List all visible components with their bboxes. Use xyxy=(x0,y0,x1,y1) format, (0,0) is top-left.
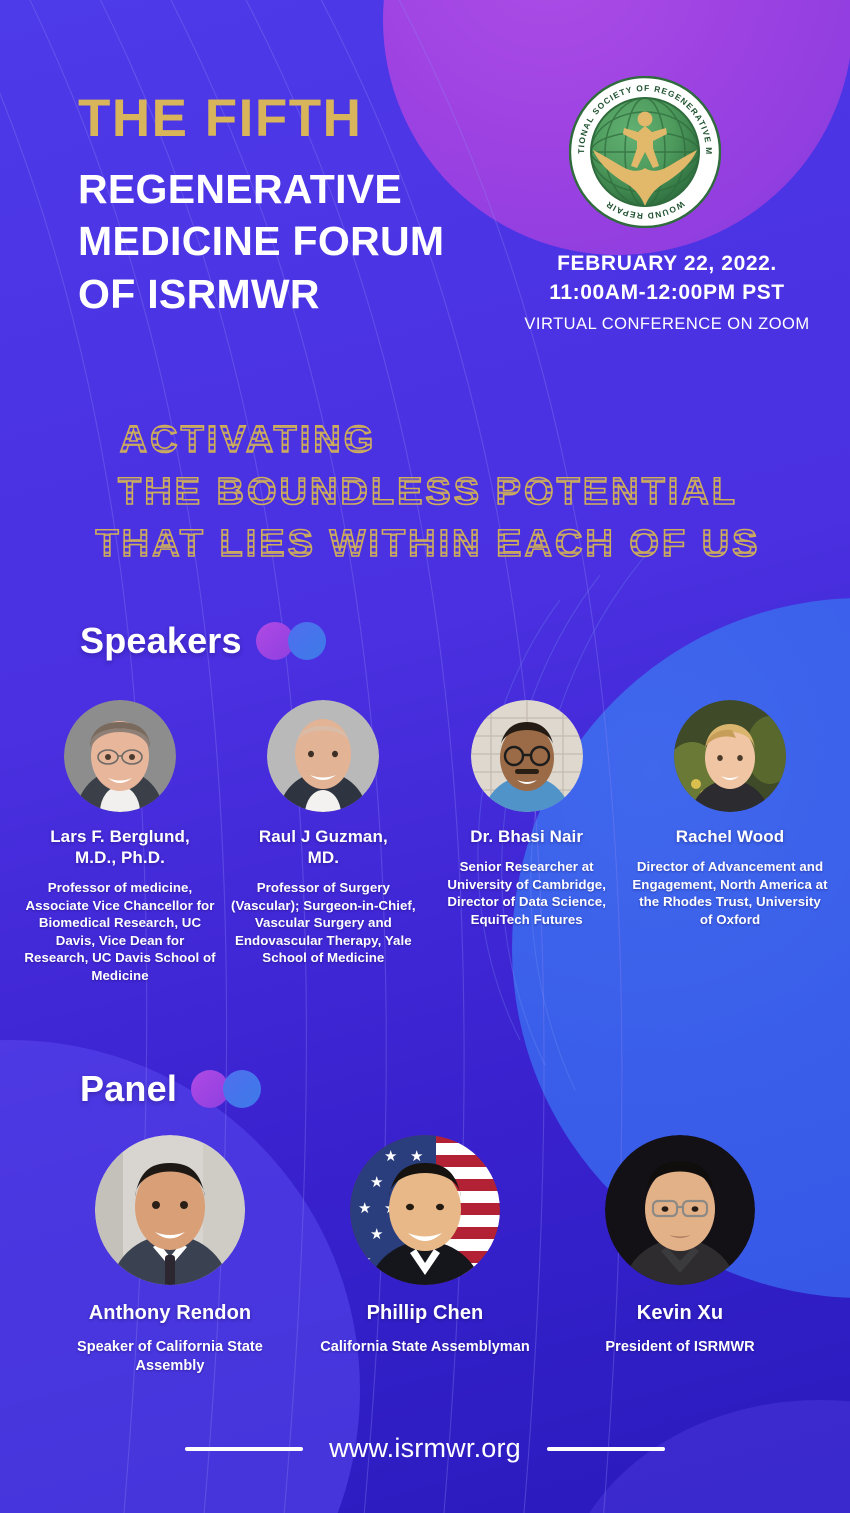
svg-text:★: ★ xyxy=(370,1225,383,1243)
svg-text:★: ★ xyxy=(384,1147,397,1165)
eyebrow-text: THE FIFTH xyxy=(78,92,538,145)
panelist-name: Anthony Rendon xyxy=(60,1301,280,1326)
speaker-card: Lars F. Berglund, M.D., Ph.D. Professor … xyxy=(22,700,218,984)
svg-text:★: ★ xyxy=(358,1251,371,1269)
footer-rule-right xyxy=(547,1447,665,1451)
tagline-line-3: THAT LIES WITHIN EACH OF US xyxy=(95,523,760,565)
speaker-name: Raul J Guzman, MD. xyxy=(225,826,421,868)
title-line-2: MEDICINE FORUM xyxy=(78,215,538,267)
avatar xyxy=(64,700,176,812)
svg-text:★: ★ xyxy=(370,1173,383,1191)
isrmwr-logo: THE INTERNATIONAL SOCIETY OF REGENERATIV… xyxy=(569,76,721,228)
speaker-title: Professor of Surgery (Vascular); Surgeon… xyxy=(225,879,421,967)
speaker-title: Senior Researcher at University of Cambr… xyxy=(429,858,625,928)
panel-section-heading: Panel xyxy=(80,1068,261,1110)
poster-footer: www.isrmwr.org xyxy=(0,1433,850,1464)
panelist-title: Speaker of California State Assembly xyxy=(60,1338,280,1376)
event-venue: VIRTUAL CONFERENCE ON ZOOM xyxy=(512,315,822,334)
svg-text:★: ★ xyxy=(358,1147,371,1165)
avatar xyxy=(95,1135,245,1285)
svg-text:★: ★ xyxy=(410,1147,423,1165)
two-circles-icon xyxy=(191,1070,261,1108)
title-line-1: REGENERATIVE xyxy=(78,163,538,215)
tagline-line-1: ACTIVATING xyxy=(120,419,377,461)
panelist-name: Phillip Chen xyxy=(315,1301,535,1326)
svg-text:★: ★ xyxy=(358,1199,371,1217)
speaker-card: Raul J Guzman, MD. Professor of Surgery … xyxy=(225,700,421,967)
title-block: THE FIFTH REGENERATIVE MEDICINE FORUM OF… xyxy=(78,92,538,320)
speaker-name: Lars F. Berglund, M.D., Ph.D. xyxy=(22,826,218,868)
speakers-list: Lars F. Berglund, M.D., Ph.D. Professor … xyxy=(22,700,828,984)
event-tagline: ACTIVATING THE BOUNDLESS POTENTIAL THAT … xyxy=(0,412,850,572)
speaker-name: Rachel Wood xyxy=(632,826,828,847)
event-date: FEBRUARY 22, 2022. xyxy=(512,250,822,279)
speakers-heading-label: Speakers xyxy=(80,620,242,662)
panelist-title: President of ISRMWR xyxy=(570,1338,790,1357)
event-details: FEBRUARY 22, 2022. 11:00AM-12:00PM PST V… xyxy=(512,250,822,334)
speaker-title: Professor of medicine, Associate Vice Ch… xyxy=(22,879,218,984)
avatar: ★★★ ★★ ★★★ ★★ ★★★ xyxy=(350,1135,500,1285)
speaker-title: Director of Advancement and Engagement, … xyxy=(632,858,828,928)
main-title: REGENERATIVE MEDICINE FORUM OF ISRMWR xyxy=(78,163,538,320)
avatar xyxy=(267,700,379,812)
panelist-card: Kevin Xu President of ISRMWR xyxy=(570,1135,790,1357)
tagline-line-2: THE BOUNDLESS POTENTIAL xyxy=(118,471,738,513)
speaker-card: Dr. Bhasi Nair Senior Researcher at Univ… xyxy=(429,700,625,928)
speaker-card: Rachel Wood Director of Advancement and … xyxy=(632,700,828,928)
panelist-card: ★★★ ★★ ★★★ ★★ ★★★ xyxy=(315,1135,535,1357)
avatar xyxy=(471,700,583,812)
panelist-name: Kevin Xu xyxy=(570,1301,790,1326)
two-circles-icon xyxy=(256,622,326,660)
event-time: 11:00AM-12:00PM PST xyxy=(512,279,822,308)
title-line-3: OF ISRMWR xyxy=(78,268,538,320)
avatar xyxy=(674,700,786,812)
speaker-name: Dr. Bhasi Nair xyxy=(429,826,625,847)
panelist-card: Anthony Rendon Speaker of California Sta… xyxy=(60,1135,280,1376)
avatar xyxy=(605,1135,755,1285)
footer-rule-left xyxy=(185,1447,303,1451)
panelist-title: California State Assemblyman xyxy=(315,1338,535,1357)
conference-poster: THE FIFTH REGENERATIVE MEDICINE FORUM OF… xyxy=(0,0,850,1513)
panel-list: Anthony Rendon Speaker of California Sta… xyxy=(60,1135,790,1376)
website-url[interactable]: www.isrmwr.org xyxy=(329,1433,521,1464)
speakers-section-heading: Speakers xyxy=(80,620,326,662)
panel-heading-label: Panel xyxy=(80,1068,177,1110)
